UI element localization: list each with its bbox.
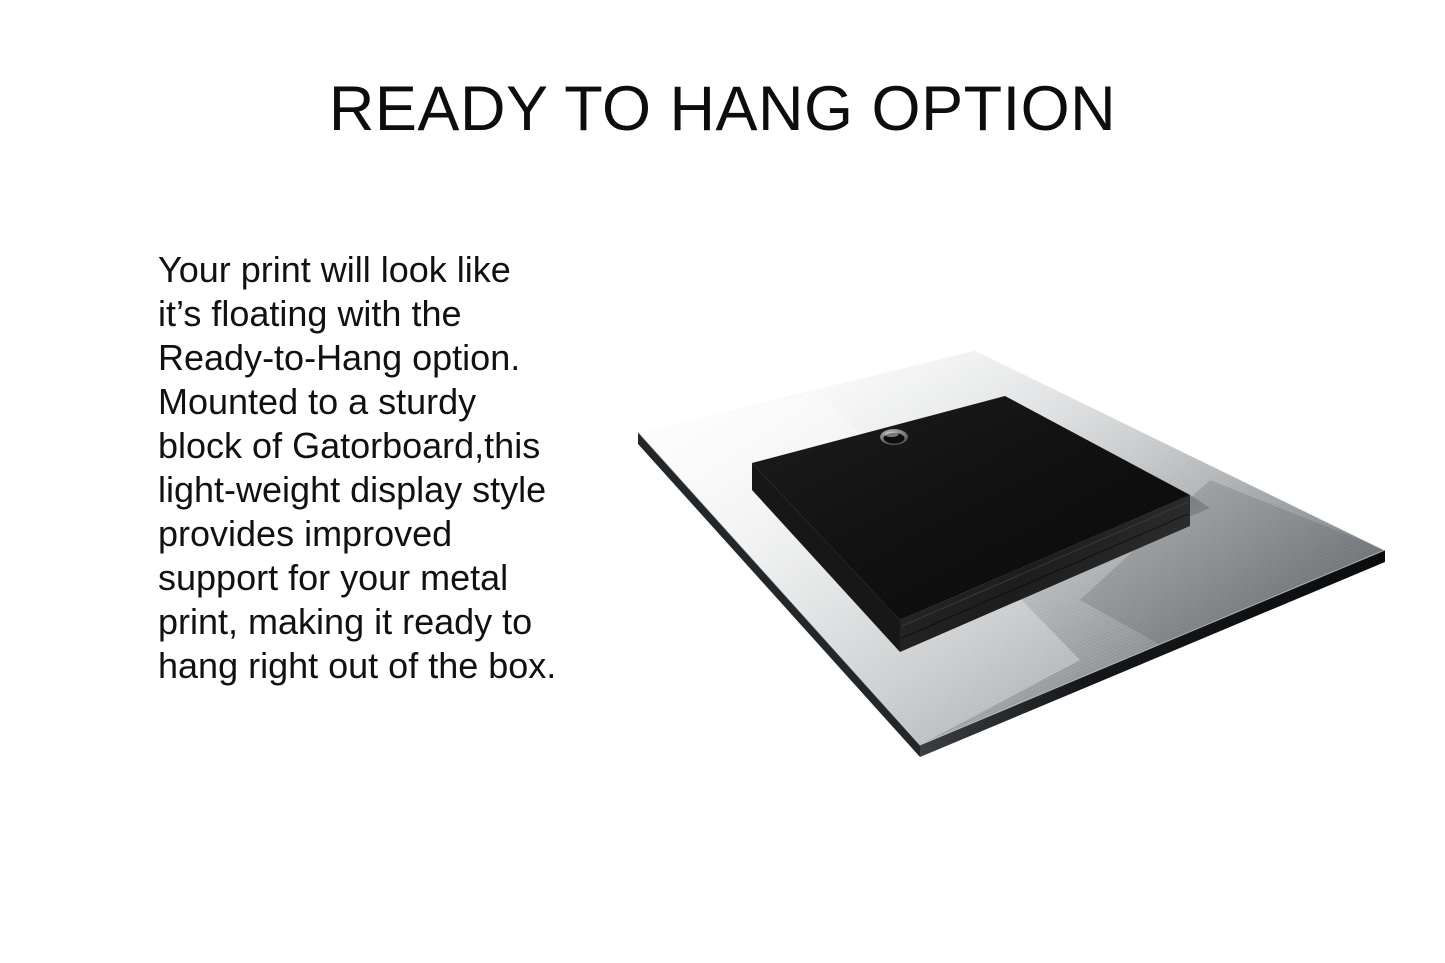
ready-to-hang-mount-photo bbox=[610, 330, 1410, 770]
page-title: READY TO HANG OPTION bbox=[0, 76, 1445, 142]
hanging-hole bbox=[880, 429, 908, 445]
product-illustration bbox=[610, 330, 1410, 770]
description-paragraph: Your print will look like it’s floating … bbox=[158, 248, 558, 688]
slide-canvas: READY TO HANG OPTION Your print will loo… bbox=[0, 0, 1445, 963]
